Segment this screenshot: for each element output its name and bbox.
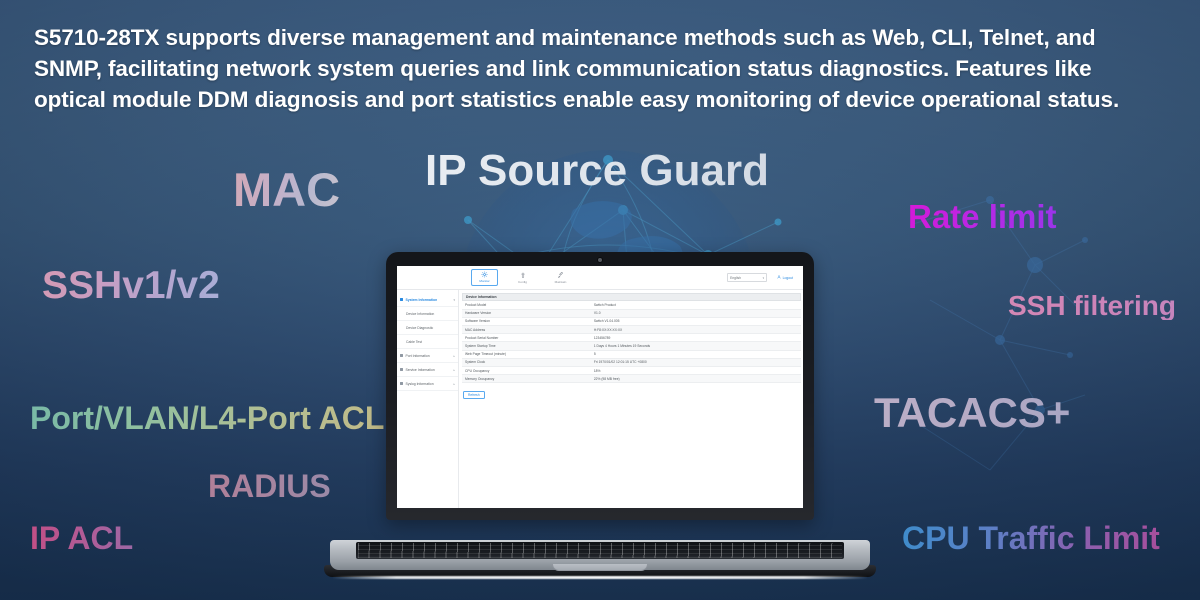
logout-label: Logout: [783, 276, 793, 280]
language-select[interactable]: English ▾: [727, 273, 767, 282]
keyword-rate-limit: Rate limit: [908, 200, 1057, 233]
table-row: Hardware VersionV1.0: [462, 309, 801, 317]
nav-item-monitor[interactable]: Monitor: [471, 269, 498, 285]
laptop-lid: Monitor Config: [386, 252, 814, 520]
laptop-screen: Monitor Config: [397, 266, 803, 508]
table-cell-key: System Startup Time: [462, 342, 591, 350]
keyword-ip-source-guard: IP Source Guard: [425, 149, 769, 193]
webui-topbar: Monitor Config: [397, 266, 803, 290]
page-headline: S5710-28TX supports diverse management a…: [34, 22, 1169, 115]
table-row: Product Serial Number123456789: [462, 334, 801, 342]
table-row: MAC AddressH:F8:XX:XX:XX:XX: [462, 326, 801, 334]
table-row: Memory Occupancy22% (98 MB free): [462, 375, 801, 383]
tools-icon: [557, 271, 564, 280]
table-cell-value: 18%: [591, 367, 801, 375]
gear-icon: [481, 270, 488, 279]
table-cell-value: 5: [591, 350, 801, 358]
table-cell-key: Web Page Timeout (minute): [462, 350, 591, 358]
refresh-button[interactable]: Refresh: [463, 391, 485, 399]
panel-title: Device Information: [462, 293, 801, 301]
sidebar-item-label: Service Information: [406, 368, 435, 372]
table-row: Product ModelSwitch Product: [462, 301, 801, 309]
table-row: Web Page Timeout (minute)5: [462, 350, 801, 358]
laptop-base: [330, 540, 870, 570]
table-cell-value: H:F8:XX:XX:XX:XX: [591, 326, 801, 334]
sidebar-item-label: System Information: [406, 298, 438, 302]
table-cell-key: Software Version: [462, 317, 591, 325]
table-cell-value: V1.0: [591, 309, 801, 317]
sidebar-item-label: Cable Test: [406, 340, 422, 344]
table-cell-key: Hardware Version: [462, 309, 591, 317]
table-cell-value: 22% (98 MB free): [591, 375, 801, 383]
chevron-right-icon: ▸: [453, 382, 455, 386]
sidebar-item-label: Port Information: [406, 354, 430, 358]
wrench-icon: [520, 271, 526, 280]
webui-body: System Information ▾ Device Information …: [397, 290, 803, 508]
keyword-mac: MAC: [233, 166, 340, 213]
keyword-cpu-traffic-limit: CPU Traffic Limit: [902, 522, 1160, 554]
table-cell-value: Switch V1.04.005: [591, 317, 801, 325]
table-cell-value: 1 Days 4 Hours 1 Minutes 19 Seconds: [591, 342, 801, 350]
table-cell-value: Fri 1970/01/02 12:01:15 UTC +0800: [591, 358, 801, 366]
menu-square-icon: [400, 298, 403, 301]
sidebar-item-device-diagnostic[interactable]: Device Diagnostic: [397, 321, 458, 335]
nav-item-config-label: Config: [518, 281, 527, 284]
chevron-right-icon: ▸: [453, 368, 455, 372]
nav-item-monitor-label: Monitor: [479, 280, 489, 283]
table-row: CPU Occupancy18%: [462, 367, 801, 375]
menu-square-icon: [400, 382, 403, 385]
keyword-sshv1-v2: SSHv1/v2: [42, 266, 220, 305]
sidebar-item-port-information[interactable]: Port Information ▸: [397, 349, 458, 363]
webui-content: Device Information Product ModelSwitch P…: [459, 290, 803, 508]
chevron-right-icon: ▸: [453, 354, 455, 358]
nav-item-maintain[interactable]: Maintain: [547, 271, 574, 285]
keyword-ssh-filtering: SSH filtering: [1008, 292, 1176, 320]
nav-item-maintain-label: Maintain: [555, 281, 567, 284]
laptop-mockup: Monitor Config: [330, 252, 870, 582]
table-cell-key: MAC Address: [462, 326, 591, 334]
keyword-ip-acl: IP ACL: [30, 522, 133, 554]
menu-square-icon: [400, 368, 403, 371]
keyword-tacacs-plus: TACACS+: [874, 392, 1070, 434]
webcam-icon: [598, 258, 602, 262]
webui-sidebar: System Information ▾ Device Information …: [397, 290, 459, 508]
table-cell-value: Switch Product: [591, 301, 801, 309]
chevron-down-icon: ▾: [453, 298, 455, 302]
laptop-keyboard: [356, 542, 844, 559]
menu-square-icon: [400, 354, 403, 357]
sidebar-item-system-information[interactable]: System Information ▾: [397, 293, 458, 307]
chevron-down-icon: ▾: [763, 276, 765, 280]
poster-stage: S5710-28TX supports diverse management a…: [0, 0, 1200, 600]
top-nav: Monitor Config: [471, 269, 574, 285]
sidebar-item-device-information[interactable]: Device Information: [397, 307, 458, 321]
sidebar-item-label: Device Diagnostic: [406, 326, 433, 330]
table-cell-key: System Clock: [462, 358, 591, 366]
user-icon: [777, 275, 781, 280]
table-cell-key: Product Model: [462, 301, 591, 309]
sidebar-item-label: Device Information: [406, 312, 434, 316]
device-information-table: Product ModelSwitch ProductHardware Vers…: [462, 301, 801, 383]
sidebar-item-service-information[interactable]: Service Information ▸: [397, 363, 458, 377]
table-cell-key: CPU Occupancy: [462, 367, 591, 375]
sidebar-item-label: Syslog Information: [406, 382, 434, 386]
logout-button[interactable]: Logout: [777, 275, 793, 280]
sidebar-item-cable-test[interactable]: Cable Test: [397, 335, 458, 349]
language-select-value: English: [730, 276, 741, 280]
nav-item-config[interactable]: Config: [509, 271, 536, 285]
table-row: System ClockFri 1970/01/02 12:01:15 UTC …: [462, 358, 801, 366]
table-row: Software VersionSwitch V1.04.005: [462, 317, 801, 325]
laptop-base-highlight: [332, 576, 868, 579]
keyword-radius: RADIUS: [208, 470, 331, 502]
table-cell-key: Memory Occupancy: [462, 375, 591, 383]
table-cell-key: Product Serial Number: [462, 334, 591, 342]
laptop-trackpad-notch: [552, 564, 648, 571]
table-cell-value: 123456789: [591, 334, 801, 342]
sidebar-item-syslog-information[interactable]: Syslog Information ▸: [397, 377, 458, 391]
table-row: System Startup Time1 Days 4 Hours 1 Minu…: [462, 342, 801, 350]
